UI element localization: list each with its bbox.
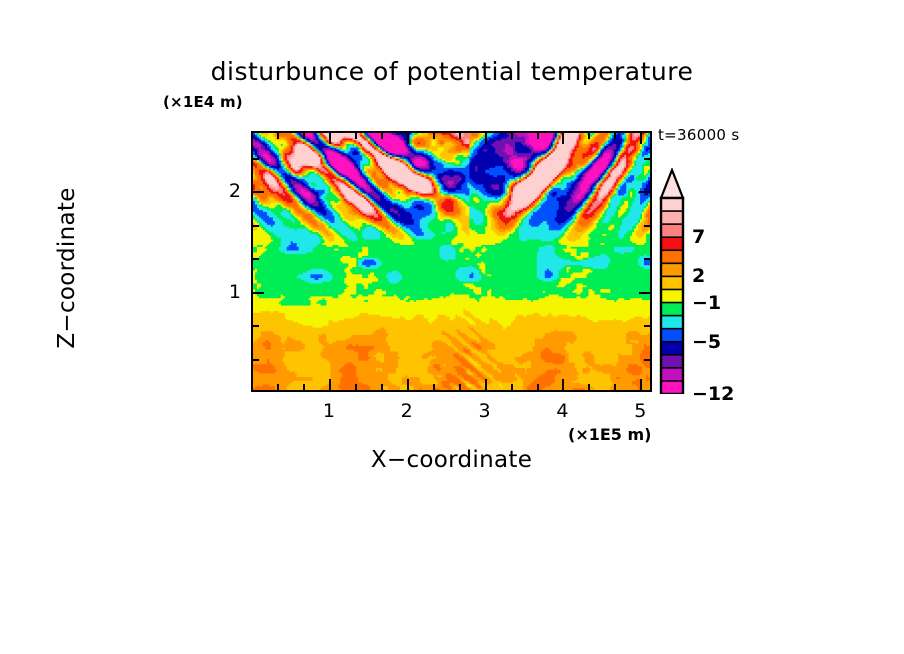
x-tick-bottom <box>537 384 539 390</box>
y-tick-right <box>644 359 650 361</box>
y-tick-right <box>644 158 650 160</box>
y-tick-left <box>253 191 264 193</box>
x-tick-top <box>614 133 616 139</box>
x-tick-bottom <box>303 384 305 390</box>
time-annotation: t=36000 s <box>658 126 739 144</box>
x-tick-bottom <box>485 379 487 390</box>
x-tick-top <box>537 133 539 139</box>
x-axis-label: X−coordinate <box>251 447 652 473</box>
x-tick-top <box>355 133 357 139</box>
x-tick-bottom <box>562 379 564 390</box>
y-tick-right <box>644 258 650 260</box>
y-tick-right <box>644 325 650 327</box>
x-tick-bottom <box>459 384 461 390</box>
x-tick-bottom <box>277 384 279 390</box>
x-tick-bottom <box>511 384 513 390</box>
contour-field <box>253 133 650 390</box>
y-tick-label: 2 <box>221 180 241 202</box>
x-tick-label: 4 <box>556 400 568 422</box>
x-tick-top <box>459 133 461 139</box>
y-axis-unit-label: (×1E4 m) <box>163 93 243 111</box>
x-axis-unit-label: (×1E5 m) <box>568 425 651 444</box>
contour-plot-area <box>251 131 652 392</box>
y-tick-right <box>639 292 650 294</box>
x-tick-top <box>329 133 331 144</box>
x-tick-top <box>588 133 590 139</box>
y-tick-left <box>253 325 259 327</box>
x-tick-bottom <box>588 384 590 390</box>
x-tick-top <box>562 133 564 144</box>
colorbar-tick-label: −5 <box>692 331 721 353</box>
x-tick-top <box>303 133 305 139</box>
colorbar-tick-label: −1 <box>692 292 721 314</box>
x-tick-label: 3 <box>479 400 491 422</box>
colorbar-tick-label: 7 <box>692 226 705 248</box>
colorbar-tick-label: −12 <box>692 383 734 405</box>
x-tick-top <box>381 133 383 139</box>
y-tick-label: 1 <box>221 281 241 303</box>
colorbar <box>658 168 686 394</box>
chart-title: disturbunce of potential temperature <box>0 57 904 86</box>
y-tick-right <box>644 225 650 227</box>
x-tick-top <box>433 133 435 139</box>
y-axis-label: Z−coordinate <box>54 138 80 398</box>
y-tick-left <box>253 292 264 294</box>
x-tick-bottom <box>640 379 642 390</box>
y-tick-left <box>253 225 259 227</box>
y-tick-left <box>253 258 259 260</box>
x-tick-bottom <box>614 384 616 390</box>
y-tick-left <box>253 359 259 361</box>
colorbar-tick-label: 2 <box>692 265 705 287</box>
x-tick-bottom <box>381 384 383 390</box>
x-tick-top <box>485 133 487 144</box>
x-tick-bottom <box>329 379 331 390</box>
x-tick-label: 2 <box>401 400 413 422</box>
x-tick-label: 1 <box>323 400 335 422</box>
x-tick-bottom <box>355 384 357 390</box>
x-tick-label: 5 <box>634 400 646 422</box>
x-tick-top <box>277 133 279 139</box>
y-tick-right <box>639 191 650 193</box>
x-tick-bottom <box>407 379 409 390</box>
x-tick-top <box>640 133 642 144</box>
x-tick-bottom <box>433 384 435 390</box>
y-tick-left <box>253 158 259 160</box>
x-tick-top <box>407 133 409 144</box>
x-tick-top <box>511 133 513 139</box>
